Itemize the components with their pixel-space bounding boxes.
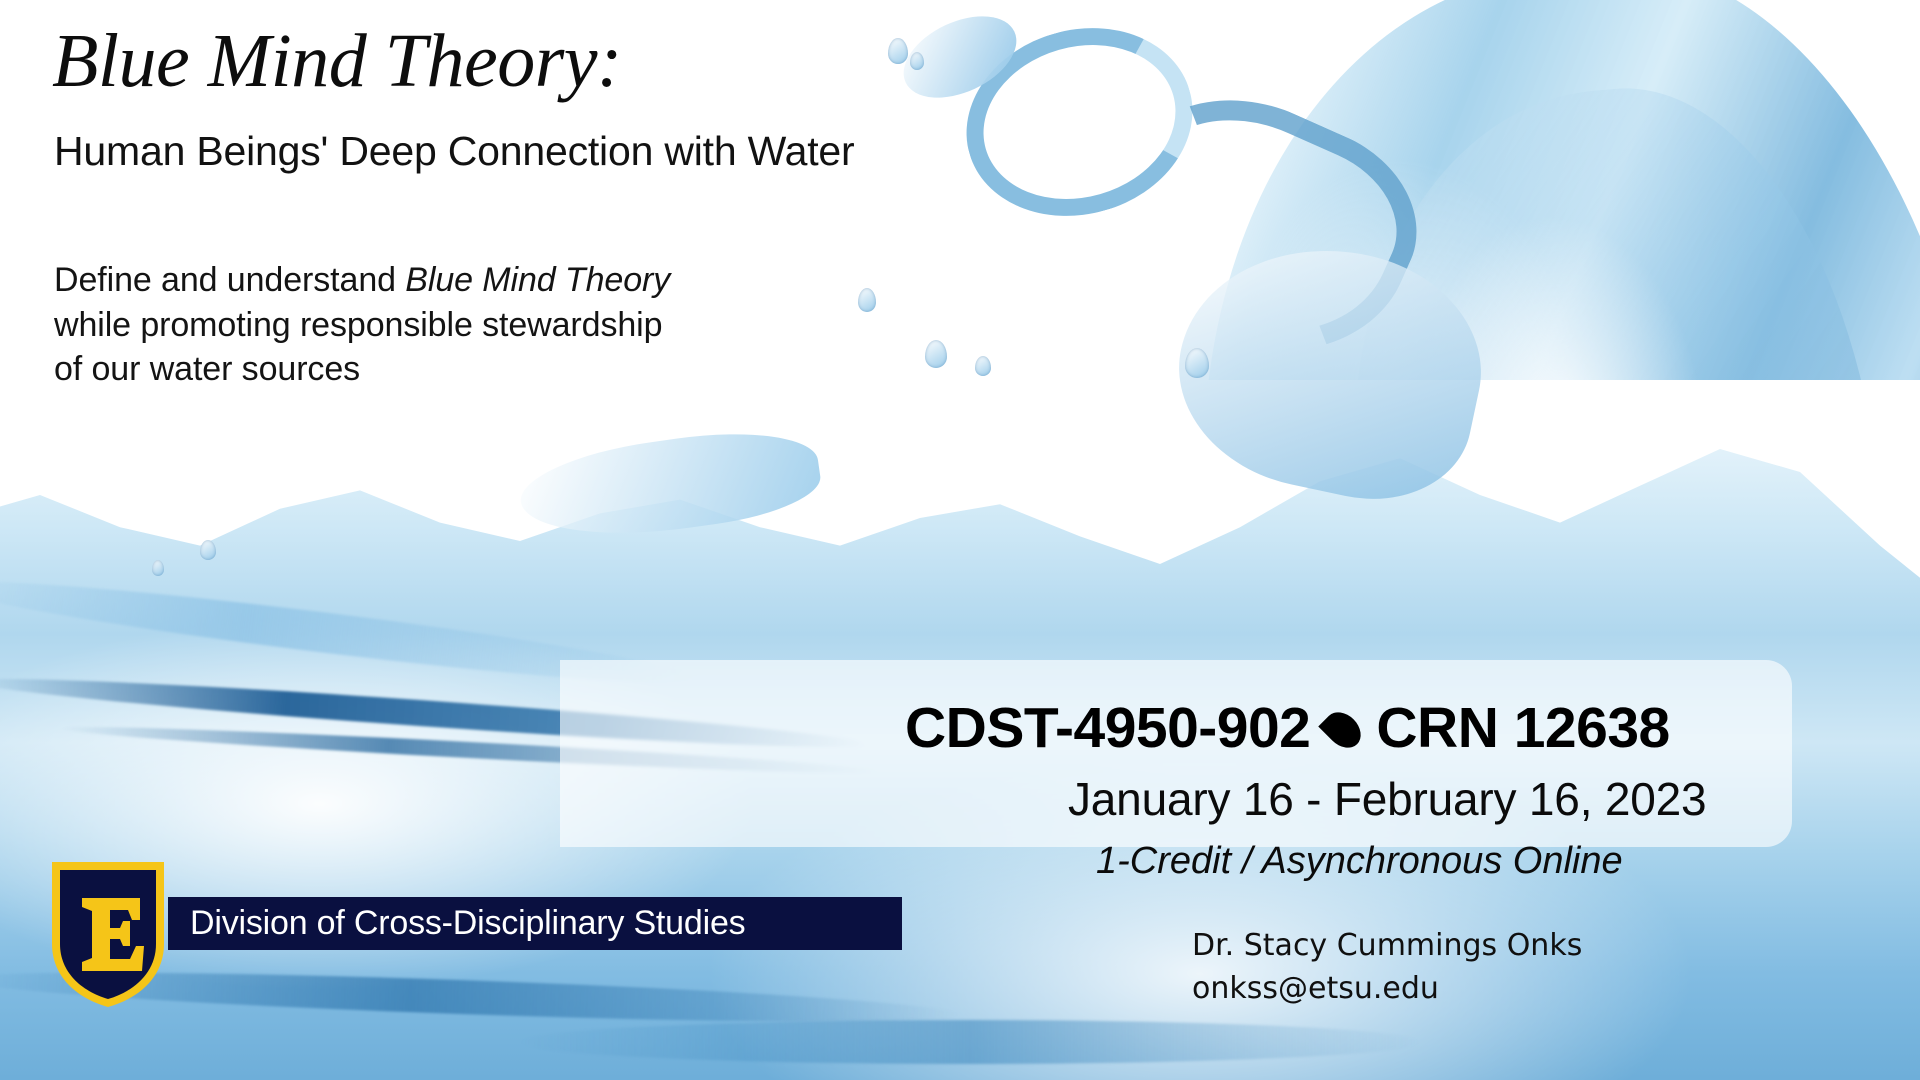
water-droplet	[888, 38, 908, 64]
instructor-block: Dr. Stacy Cummings Onks onkss@etsu.edu	[1192, 925, 1582, 1010]
course-crn-label: CRN 12638	[1376, 695, 1669, 761]
water-drop-icon	[1319, 705, 1368, 754]
description-line-3: of our water sources	[54, 347, 670, 392]
page-subtitle: Human Beings' Deep Connection with Water	[54, 128, 855, 175]
splash-tendril	[515, 420, 825, 551]
course-description: Define and understand Blue Mind Theory w…	[54, 258, 670, 392]
etsu-shield-icon	[48, 858, 168, 1010]
water-droplet	[975, 356, 991, 376]
description-line-2: while promoting responsible stewardship	[54, 303, 670, 348]
description-emphasis: Blue Mind Theory	[405, 261, 670, 299]
flyer-canvas: Blue Mind Theory: Human Beings' Deep Con…	[0, 0, 1920, 1080]
water-droplet	[152, 560, 164, 576]
description-text: Define and understand	[54, 261, 405, 299]
water-droplet	[925, 340, 947, 368]
instructor-email[interactable]: onkss@etsu.edu	[1192, 968, 1582, 1011]
water-ribbon	[520, 1020, 1420, 1064]
instructor-name: Dr. Stacy Cummings Onks	[1192, 925, 1582, 968]
page-title: Blue Mind Theory:	[52, 22, 622, 102]
course-code-label: CDST-4950-902	[905, 695, 1310, 761]
division-label: Division of Cross-Disciplinary Studies	[168, 904, 745, 943]
water-droplet	[200, 540, 216, 560]
course-format: 1-Credit / Asynchronous Online	[1096, 840, 1623, 883]
water-crest-mask	[0, 380, 1920, 610]
course-dates: January 16 - February 16, 2023	[1068, 772, 1706, 826]
water-droplet	[910, 52, 924, 70]
course-code-line: CDST-4950-902 CRN 12638	[905, 695, 1670, 761]
water-droplet	[858, 288, 876, 312]
water-droplet	[1185, 348, 1209, 378]
division-banner: Division of Cross-Disciplinary Studies	[168, 897, 902, 950]
description-line-1: Define and understand Blue Mind Theory	[54, 258, 670, 303]
